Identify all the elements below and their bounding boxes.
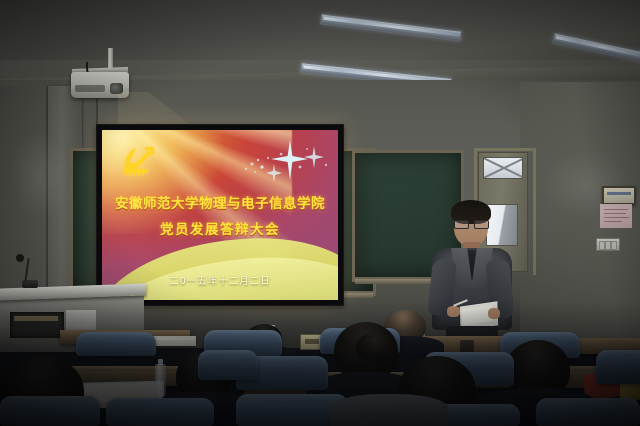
lectern-shelf — [10, 312, 64, 338]
chair-front-2[interactable] — [106, 398, 214, 426]
presenter-hand-right — [488, 308, 500, 319]
slide-subtitle: 党员发展答辩大会 — [102, 218, 338, 238]
light-switch-panel[interactable] — [596, 238, 620, 251]
water-bottle — [155, 364, 166, 396]
projection-screen: 安徽师范大学物理与电子信息学院 党员发展答辩大会 二0一五年十二月二日 — [96, 124, 344, 306]
presentation-slide: 安徽师范大学物理与电子信息学院 党员发展答辩大会 二0一五年十二月二日 — [102, 130, 338, 300]
audience-member-9-shoulders — [330, 394, 448, 426]
wall-plaque — [602, 186, 636, 205]
sparkle-decoration — [238, 136, 334, 190]
projector-lens — [110, 83, 123, 94]
lecture-hall-photo: 安徽师范大学物理与电子信息学院 党员发展答辩大会 二0一五年十二月二日 — [0, 0, 640, 426]
chair-front-5[interactable] — [536, 398, 640, 426]
chair-mid-3[interactable] — [596, 350, 640, 384]
presenter-glasses — [454, 220, 488, 227]
slide-title: 安徽师范大学物理与电子信息学院 — [102, 192, 338, 212]
audience-member-7-head — [356, 332, 396, 362]
cpc-hammer-sickle-emblem — [118, 143, 158, 177]
door-transom-window — [483, 157, 523, 179]
wall-stain — [10, 130, 70, 220]
chair-front-1[interactable] — [0, 396, 100, 426]
presenter-hand-left — [447, 306, 460, 317]
chair-mid-4[interactable] — [198, 350, 258, 380]
ceiling-projector — [71, 72, 129, 98]
wall-notice — [600, 204, 632, 228]
papers-back-left — [150, 336, 196, 346]
microphone-head — [16, 254, 24, 262]
chair-back-4[interactable] — [76, 332, 156, 356]
